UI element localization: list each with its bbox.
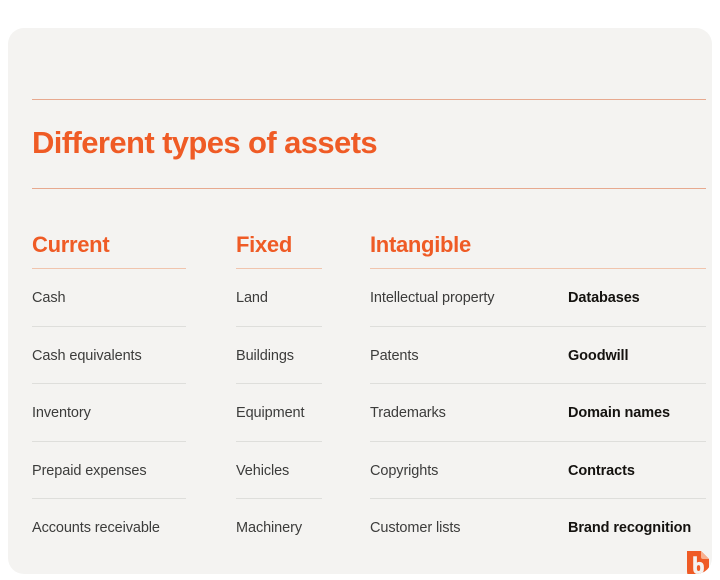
cell-fixed-3: Equipment <box>236 404 304 422</box>
cell-current-2: Cash equivalents <box>32 347 142 365</box>
cell-intangible-2b: Goodwill <box>568 347 628 365</box>
cell-current-5: Accounts receivable <box>32 519 160 537</box>
cell-intangible-1b: Databases <box>568 289 640 307</box>
table-row: Equipment <box>236 384 322 442</box>
bench-b-logo-icon <box>687 551 709 574</box>
cell-intangible-3a: Trademarks <box>370 404 446 422</box>
cell-current-3: Inventory <box>32 404 91 422</box>
column-fixed: Fixed Land Buildings Equipment Vehicles <box>236 231 322 557</box>
column-current: Current Cash Cash equivalents Inventory … <box>32 231 186 557</box>
cell-intangible-2a: Patents <box>370 347 418 365</box>
table-row: Vehicles <box>236 442 322 500</box>
cell-intangible-1a: Intellectual property <box>370 289 494 307</box>
table-row: Intellectual property Databases <box>370 269 706 327</box>
column-heading-intangible: Intangible <box>370 231 706 258</box>
table-row: Copyrights Contracts <box>370 442 706 500</box>
table-row: Trademarks Domain names <box>370 384 706 442</box>
cell-fixed-4: Vehicles <box>236 462 289 480</box>
page-title: Different types of assets <box>32 124 377 162</box>
cell-intangible-5a: Customer lists <box>370 519 460 537</box>
title-divider <box>32 188 706 189</box>
table-row: Buildings <box>236 327 322 385</box>
cell-fixed-1: Land <box>236 289 268 307</box>
cell-current-1: Cash <box>32 289 65 307</box>
table-row: Customer lists Brand recognition <box>370 499 706 557</box>
column-rows-fixed: Land Buildings Equipment Vehicles Machin… <box>236 269 322 557</box>
table-row: Patents Goodwill <box>370 327 706 385</box>
table-row: Machinery <box>236 499 322 557</box>
top-divider <box>32 99 706 100</box>
assets-card: Different types of assets Current Cash C… <box>8 28 712 574</box>
table-row: Prepaid expenses <box>32 442 186 500</box>
table-row: Accounts receivable <box>32 499 186 557</box>
table-row: Cash equivalents <box>32 327 186 385</box>
cell-fixed-5: Machinery <box>236 519 302 537</box>
cell-fixed-2: Buildings <box>236 347 294 365</box>
column-heading-current: Current <box>32 231 186 258</box>
cell-intangible-5b: Brand recognition <box>568 519 691 537</box>
column-intangible: Intangible Intellectual property Databas… <box>370 231 706 557</box>
column-rows-intangible: Intellectual property Databases Patents … <box>370 269 706 557</box>
screenshot-root: Different types of assets Current Cash C… <box>0 0 720 580</box>
column-rows-current: Cash Cash equivalents Inventory Prepaid … <box>32 269 186 557</box>
cell-intangible-4a: Copyrights <box>370 462 438 480</box>
table-row: Land <box>236 269 322 327</box>
cell-intangible-3b: Domain names <box>568 404 670 422</box>
column-heading-fixed: Fixed <box>236 231 322 258</box>
cell-current-4: Prepaid expenses <box>32 462 146 480</box>
table-row: Cash <box>32 269 186 327</box>
cell-intangible-4b: Contracts <box>568 462 635 480</box>
table-row: Inventory <box>32 384 186 442</box>
